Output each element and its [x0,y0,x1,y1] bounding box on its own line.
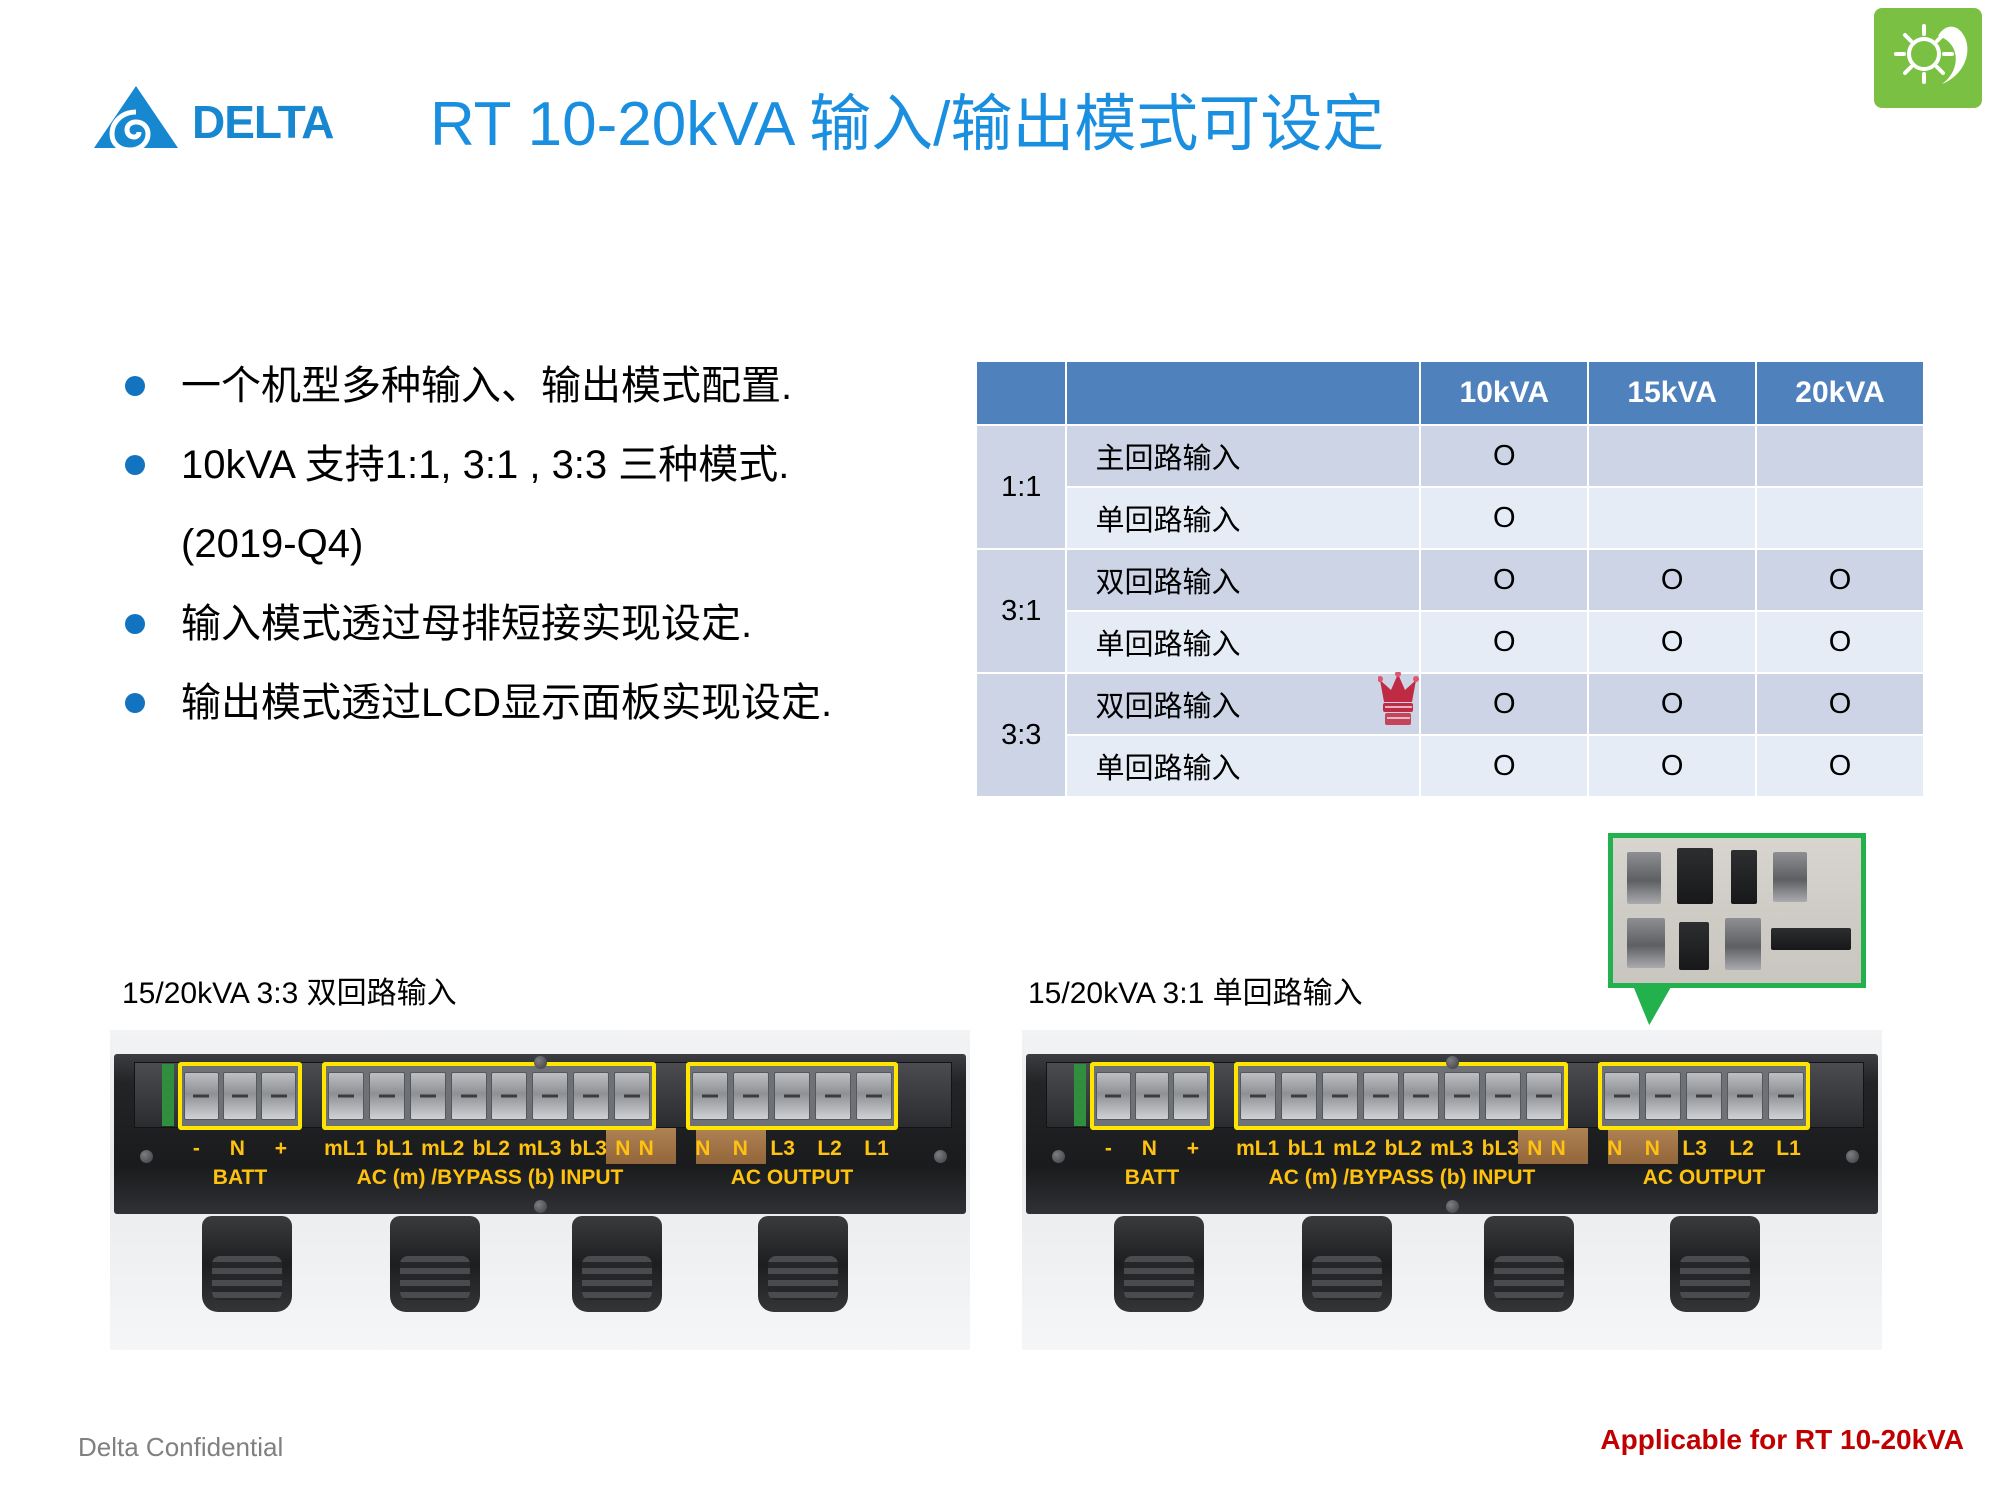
bullet-sub-text: (2019-Q4) [181,518,915,570]
terminal-pin[interactable] [692,1072,728,1120]
terminal-pin[interactable] [1363,1072,1399,1120]
panel-caption-right: 15/20kVA 3:1 单回路输入 [1028,968,1363,1012]
table-col-mode-header [1067,362,1419,424]
bullet-dot-icon [125,693,145,713]
pin-label: L2 [1729,1137,1754,1161]
terminal-pin[interactable] [1645,1072,1681,1120]
delta-logo-mark: DELTA [88,82,388,152]
panel-caption-left: 15/20kVA 3:3 双回路输入 [122,968,457,1012]
terminal-pin[interactable] [1322,1072,1358,1120]
support-mark-15kva: O [1589,550,1755,610]
terminal-pin[interactable] [261,1072,296,1120]
pin-label: N [1551,1137,1566,1161]
support-mark-15kva [1589,488,1755,548]
busbar-jumper [1771,928,1851,950]
terminal-group-ac-output[interactable] [686,1062,898,1130]
support-mark-10kva: O [1421,736,1587,796]
feature-bullet-list: 一个机型多种输入、输出模式配置. 10kVA 支持1:1, 3:1 , 3:3 … [125,360,915,756]
pin-label: L3 [1682,1137,1707,1161]
table-col-15kva-header: 15kVA [1589,362,1755,424]
terminal-pin[interactable] [1240,1072,1276,1120]
screw-icon [1052,1150,1065,1163]
screw-icon [534,1200,547,1213]
green-pcb-strip [1074,1064,1086,1126]
support-mark-15kva: O [1589,674,1755,734]
support-mark-20kva [1757,426,1923,486]
table-col-10kva-header: 10kVA [1421,362,1587,424]
screw-icon [1446,1200,1459,1213]
support-mark-20kva [1757,488,1923,548]
support-mark-10kva: O [1421,488,1587,548]
pin-label: - [193,1137,200,1161]
screw-icon [534,1056,547,1069]
busbar-jumper [1627,852,1661,904]
terminal-pin[interactable] [1727,1072,1763,1120]
terminal-pin[interactable] [815,1072,851,1120]
group-label-batt: BATT [178,1166,302,1190]
cable-gland [1484,1216,1574,1312]
support-mark-10kva: O [1421,674,1587,734]
pin-labels-batt: - N + [1090,1134,1214,1164]
pin-label: bL1 [376,1137,413,1161]
mode-support-table: 10kVA 15kVA 20kVA 1:1 主回路输入 O 单回路输入 O 3:… [975,360,1925,798]
chassis: - N + mL1 bL1 mL2 bL2 mL3 bL3 N N N N L3… [114,1054,966,1214]
bullet-dot-icon [125,376,145,396]
screw-icon [934,1150,947,1163]
terminal-pin[interactable] [1173,1072,1208,1120]
support-mark-20kva: O [1757,674,1923,734]
support-mark-20kva: O [1757,612,1923,672]
terminal-pin[interactable] [774,1072,810,1120]
busbar-jumper [1773,852,1807,902]
terminal-pin[interactable] [856,1072,892,1120]
screw-icon [1846,1150,1859,1163]
table-row: 1:1 主回路输入 O [977,426,1923,486]
pin-label: N [1142,1137,1157,1161]
ratio-label-3to1: 3:1 [977,550,1065,672]
terminal-block-photo-right: - N + mL1 bL1 mL2 bL2 mL3 bL3 N N N N L3… [1022,1030,1882,1350]
pin-label: mL1 [324,1137,367,1161]
terminal-pin[interactable] [532,1072,568,1120]
pin-labels-ac-output: N N L3 L2 L1 [1596,1134,1812,1164]
list-item: 输出模式透过LCD显示面板实现设定. [125,677,915,729]
support-mark-20kva: O [1757,550,1923,610]
terminal-pin[interactable] [1485,1072,1521,1120]
group-label-ac-input: AC (m) /BYPASS (b) INPUT [310,1166,670,1190]
cable-gland [1114,1216,1204,1312]
support-mark-15kva [1589,426,1755,486]
bullet-text: 输入模式透过母排短接实现设定. [181,598,752,650]
pin-label: N [230,1137,245,1161]
list-item: 10kVA 支持1:1, 3:1 , 3:3 三种模式. [125,439,915,491]
pin-labels-ac-input: mL1 bL1 mL2 bL2 mL3 bL3 N N [1232,1134,1570,1164]
green-pcb-strip [162,1064,174,1126]
footer-applicability-note: Applicable for RT 10-20kVA [1600,1424,1964,1456]
pin-labels-ac-input: mL1 bL1 mL2 bL2 mL3 bL3 N N [320,1134,658,1164]
pin-label: N [733,1137,748,1161]
page-title: RT 10-20kVA 输入/输出模式可设定 [430,80,1760,170]
cable-gland [572,1216,662,1312]
pin-label: + [1187,1137,1199,1161]
pin-label: bL3 [1482,1137,1519,1161]
terminal-group-batt[interactable] [1090,1062,1214,1130]
terminal-block-photo-left: - N + mL1 bL1 mL2 bL2 mL3 bL3 N N N N L3… [110,1030,970,1350]
bullet-text: 输出模式透过LCD显示面板实现设定. [181,677,832,729]
chassis: - N + mL1 bL1 mL2 bL2 mL3 bL3 N N N N L3… [1026,1054,1878,1214]
pin-label: mL2 [421,1137,464,1161]
list-item: 输入模式透过母排短接实现设定. [125,598,915,650]
cable-gland [390,1216,480,1312]
pin-label: N [639,1137,654,1161]
table-row: 单回路输入 O [977,488,1923,548]
mode-label: 单回路输入 [1067,736,1419,796]
pin-label: mL3 [518,1137,561,1161]
terminal-pin[interactable] [1604,1072,1640,1120]
group-label-ac-output: AC OUTPUT [1596,1166,1812,1190]
group-label-ac-input: AC (m) /BYPASS (b) INPUT [1222,1166,1582,1190]
terminal-pin[interactable] [1768,1072,1804,1120]
table-row: 单回路输入 O O O [977,612,1923,672]
terminal-pin[interactable] [410,1072,446,1120]
ratio-label-3to3: 3:3 [977,674,1065,796]
pin-label: bL3 [570,1137,607,1161]
cable-gland [758,1216,848,1312]
pin-label: - [1105,1137,1112,1161]
group-label-batt: BATT [1090,1166,1214,1190]
terminal-pin[interactable] [1686,1072,1722,1120]
pin-label: N [1607,1137,1622,1161]
table-header-row: 10kVA 15kVA 20kVA [977,362,1923,424]
pin-label: mL3 [1430,1137,1473,1161]
pin-label: bL2 [473,1137,510,1161]
support-mark-10kva: O [1421,426,1587,486]
pin-label: N [615,1137,630,1161]
terminal-pin[interactable] [1444,1072,1480,1120]
terminal-pin[interactable] [1526,1072,1562,1120]
ratio-label-1to1: 1:1 [977,426,1065,548]
terminal-pin[interactable] [1096,1072,1131,1120]
bullet-dot-icon [125,614,145,634]
terminal-pin[interactable] [451,1072,487,1120]
screw-icon [140,1150,153,1163]
screw-icon [1446,1056,1459,1069]
terminal-pin[interactable] [1281,1072,1317,1120]
terminal-pin[interactable] [223,1072,258,1120]
cable-gland [1670,1216,1760,1312]
pin-label: + [275,1137,287,1161]
support-mark-10kva: O [1421,612,1587,672]
cable-gland [1302,1216,1392,1312]
terminal-pin[interactable] [1403,1072,1439,1120]
table-row: 单回路输入 O O O [977,736,1923,796]
footer-confidential-note: Delta Confidential [78,1432,283,1463]
pin-label: mL1 [1236,1137,1279,1161]
pin-label: N [695,1137,710,1161]
support-mark-20kva: O [1757,736,1923,796]
terminal-group-ac-input[interactable] [1234,1062,1568,1130]
crown-icon [1378,672,1430,730]
delta-logo: DELTA [88,82,388,152]
terminal-pin[interactable] [614,1072,650,1120]
busbar-jumper [1679,922,1709,970]
mode-label: 双回路输入 [1067,550,1419,610]
eco-leaf-sun-icon [1874,8,1982,108]
cable-gland [202,1216,292,1312]
terminal-pin[interactable] [1135,1072,1170,1120]
table-col-20kva-header: 20kVA [1757,362,1923,424]
bullet-dot-icon [125,455,145,475]
bullet-text: 一个机型多种输入、输出模式配置. [181,360,792,412]
support-mark-10kva: O [1421,550,1587,610]
table-row: 3:3 双回路输入 O O O [977,674,1923,734]
terminal-pin[interactable] [733,1072,769,1120]
terminal-pin[interactable] [491,1072,527,1120]
pin-label: mL2 [1333,1137,1376,1161]
mode-label: 单回路输入 [1067,612,1419,672]
busbar-jumper [1677,848,1713,904]
terminal-group-batt[interactable] [178,1062,302,1130]
svg-text:DELTA: DELTA [192,96,334,148]
pin-label: L1 [864,1137,889,1161]
pin-label: N [1645,1137,1660,1161]
list-item: 一个机型多种输入、输出模式配置. [125,360,915,412]
mode-label: 单回路输入 [1067,488,1419,548]
table-col-ratio-header [977,362,1065,424]
terminal-pin[interactable] [369,1072,405,1120]
bullet-text: 10kVA 支持1:1, 3:1 , 3:3 三种模式. [181,439,789,491]
pin-label: bL2 [1385,1137,1422,1161]
terminal-group-ac-input[interactable] [322,1062,656,1130]
busbar-jumper [1725,918,1761,970]
table-row: 3:1 双回路输入 O O O [977,550,1923,610]
mode-label: 双回路输入 [1067,674,1419,734]
busbar-jumper-photo [1608,833,1866,988]
terminal-pin[interactable] [328,1072,364,1120]
support-mark-15kva: O [1589,612,1755,672]
support-mark-15kva: O [1589,736,1755,796]
busbar-jumper [1627,918,1665,968]
pin-labels-batt: - N + [178,1134,302,1164]
mode-label: 主回路输入 [1067,426,1419,486]
terminal-pin[interactable] [184,1072,219,1120]
pin-label: L2 [817,1137,842,1161]
pin-labels-ac-output: N N L3 L2 L1 [684,1134,900,1164]
terminal-group-ac-output[interactable] [1598,1062,1810,1130]
pin-label: bL1 [1288,1137,1325,1161]
terminal-pin[interactable] [573,1072,609,1120]
pin-label: L3 [770,1137,795,1161]
pin-label: N [1527,1137,1542,1161]
pin-label: L1 [1776,1137,1801,1161]
group-label-ac-output: AC OUTPUT [684,1166,900,1190]
busbar-jumper [1731,850,1757,904]
